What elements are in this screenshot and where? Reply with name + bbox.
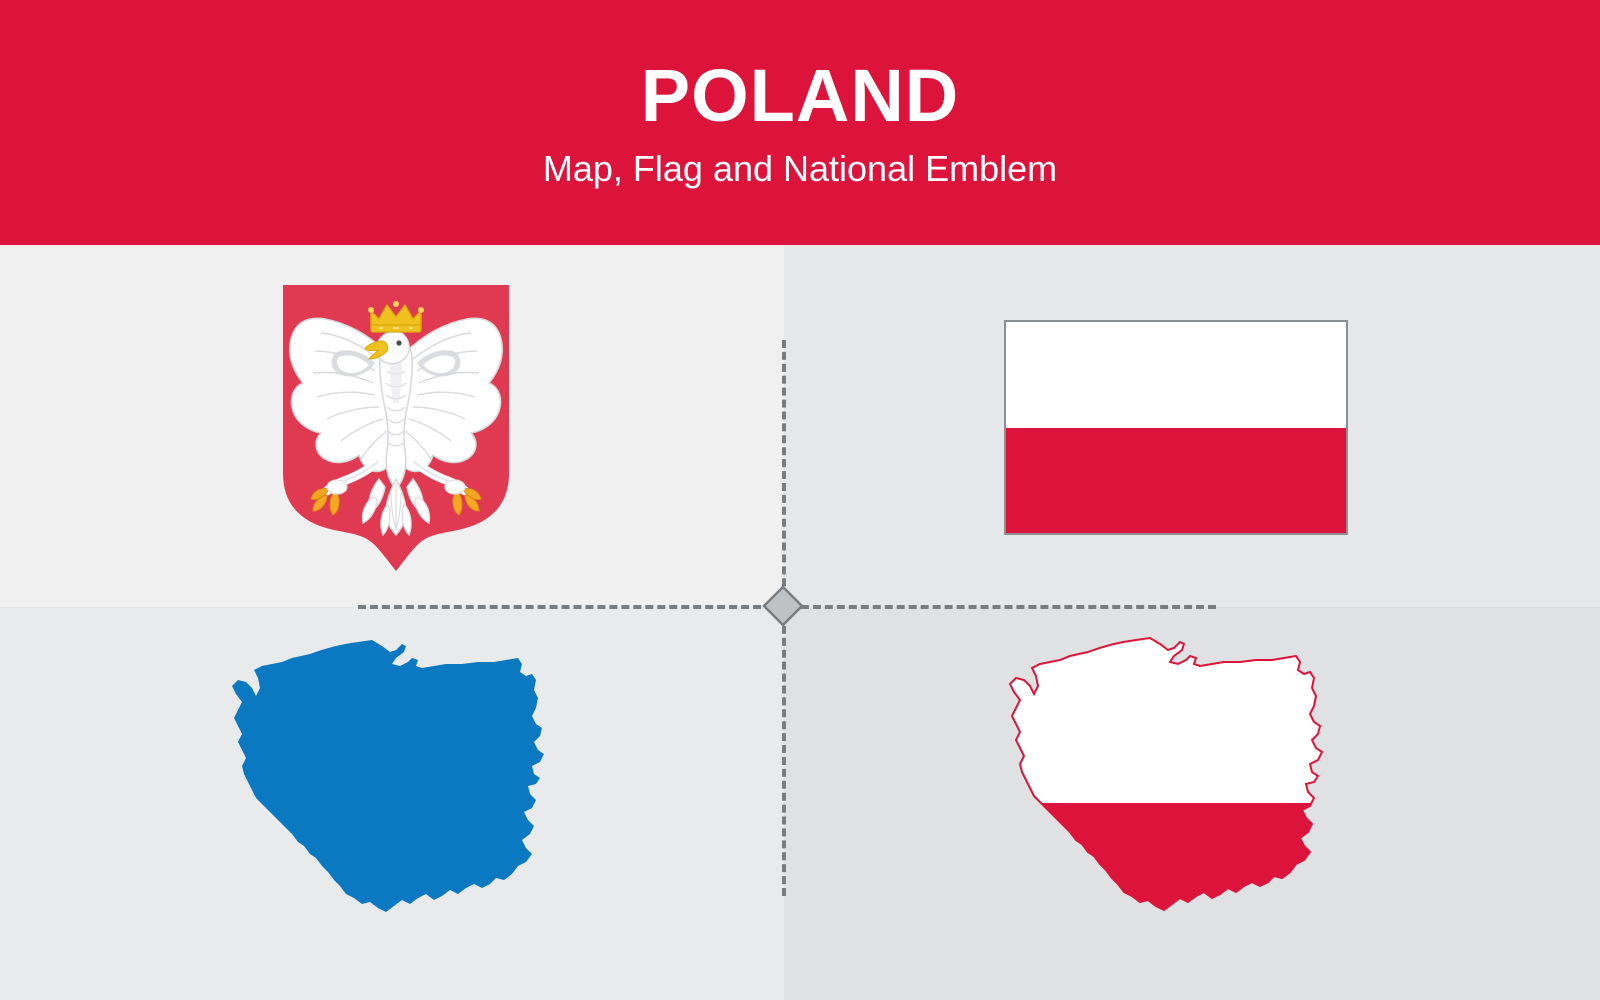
divider-center-diamond-icon xyxy=(762,585,804,627)
eagle-eye xyxy=(396,340,401,345)
flag-stripe-red xyxy=(1006,428,1346,534)
flag-of-poland xyxy=(1004,320,1348,535)
flag-stripe-white xyxy=(1006,322,1346,428)
map-fill-white xyxy=(1000,630,1362,803)
page-title: POLAND xyxy=(641,57,959,135)
map-silhouette xyxy=(232,640,544,912)
header-banner: POLAND Map, Flag and National Emblem xyxy=(0,0,1600,245)
emblem-eagle xyxy=(290,301,503,535)
page-subtitle: Map, Flag and National Emblem xyxy=(543,149,1057,189)
infographic-root: POLAND Map, Flag and National Emblem xyxy=(0,0,1600,1000)
poland-map-plain xyxy=(222,632,584,962)
map-fill-red xyxy=(1000,803,1362,963)
poland-map-flag xyxy=(1000,630,1362,963)
national-emblem xyxy=(283,283,509,573)
